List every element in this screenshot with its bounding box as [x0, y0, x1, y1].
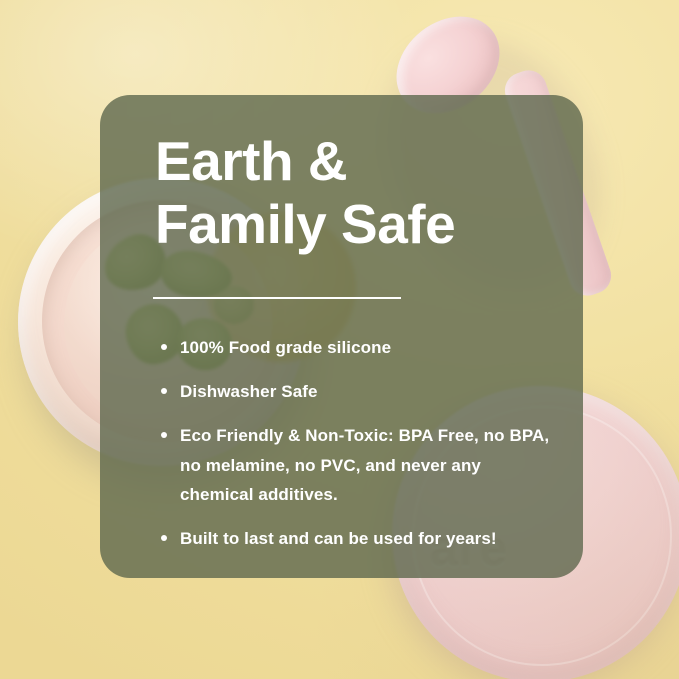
feature-list: 100% Food grade silicone Dishwasher Safe… [158, 333, 550, 553]
feature-list-item: Eco Friendly & Non-Toxic: BPA Free, no B… [158, 421, 550, 509]
feature-list-item: 100% Food grade silicone [158, 333, 550, 362]
title-divider [153, 297, 401, 299]
feature-list-item: Dishwasher Safe [158, 377, 550, 406]
product-infographic: are Earth &Family Safe 100% Food grade s… [0, 0, 679, 679]
feature-overlay-card: Earth &Family Safe 100% Food grade silic… [100, 95, 583, 578]
feature-list-item: Built to last and can be used for years! [158, 524, 550, 553]
card-title-line-1: Earth & [155, 130, 347, 192]
card-title-line-2: Family Safe [155, 193, 555, 256]
card-title: Earth &Family Safe [155, 130, 555, 257]
card-content: Earth &Family Safe 100% Food grade silic… [100, 95, 583, 578]
